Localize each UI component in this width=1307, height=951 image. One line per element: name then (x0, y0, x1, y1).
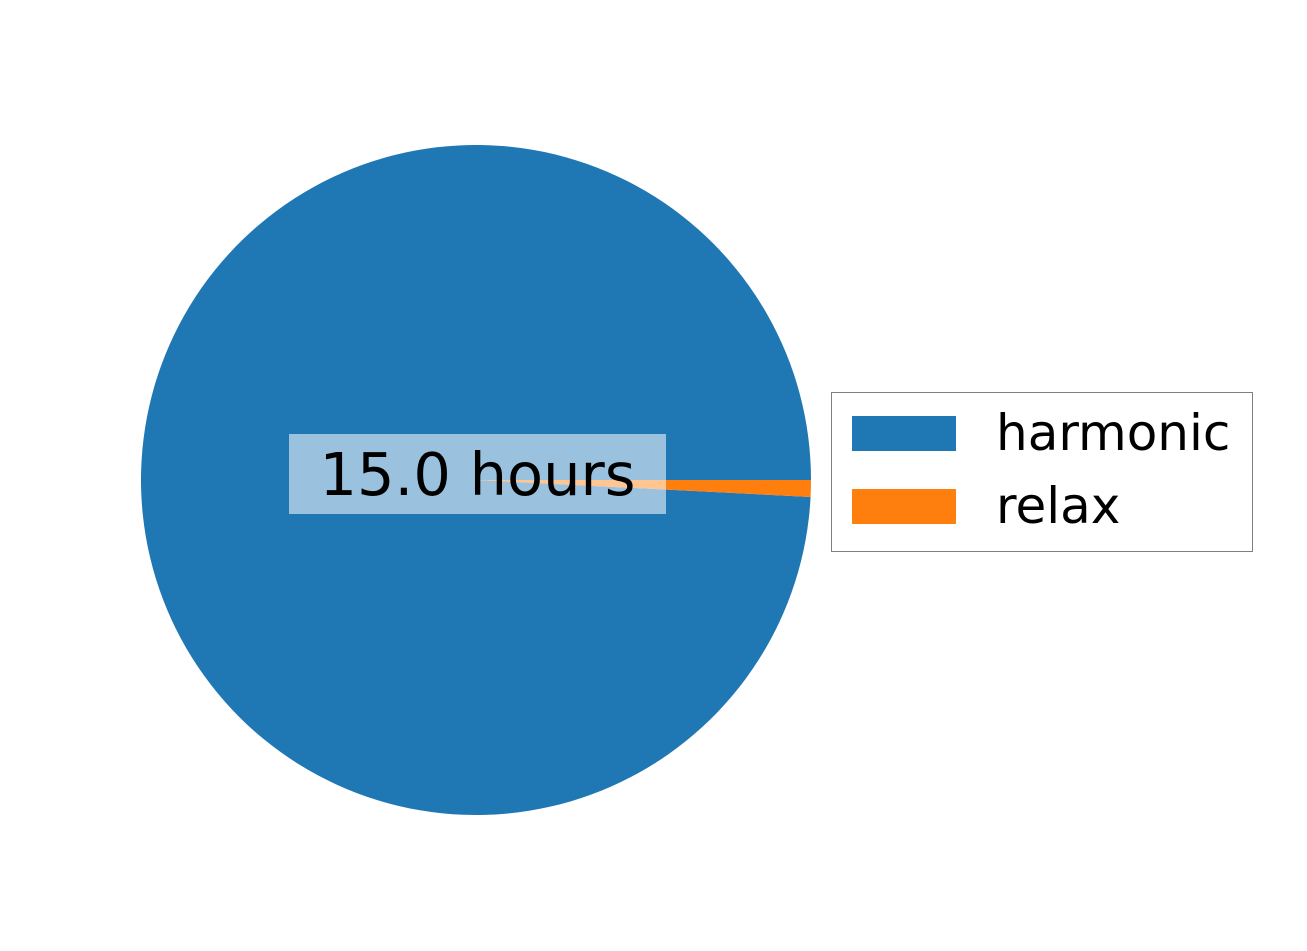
legend-color-swatch-relax (852, 489, 956, 524)
legend-entry-harmonic[interactable]: harmonic (832, 411, 1252, 455)
pie-chart-figure: 15.0 hours harmonic relax (0, 0, 1307, 951)
legend-entry-relax[interactable]: relax (832, 484, 1252, 528)
legend-label-harmonic: harmonic (996, 408, 1230, 458)
chart-legend: harmonic relax (831, 392, 1253, 552)
legend-color-swatch-harmonic (852, 416, 956, 451)
pie-slice-value-label: 15.0 hours (289, 434, 666, 514)
legend-label-relax: relax (996, 481, 1120, 531)
pie-slice-value-label-text: 15.0 hours (319, 445, 635, 504)
